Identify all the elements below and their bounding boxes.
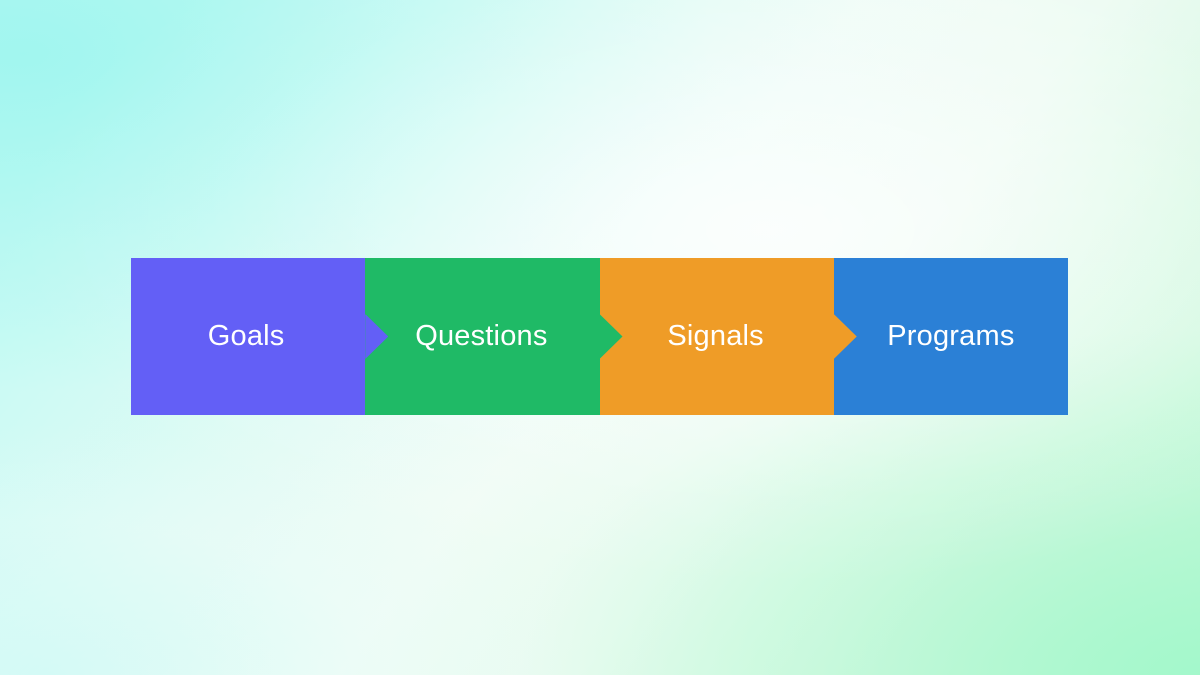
process-stage-questions[interactable]: Questions (365, 258, 599, 415)
process-stage-programs-label: Programs (887, 322, 1014, 351)
process-stage-goals[interactable]: Goals (131, 258, 365, 415)
process-stage-signals[interactable]: Signals (600, 258, 834, 415)
process-stage-questions-label: Questions (415, 322, 547, 351)
process-stage-goals-label: Goals (208, 322, 285, 351)
process-stage-signals-label: Signals (667, 322, 764, 351)
process-flow-banner: Goals Questions Signals Programs (131, 258, 1068, 415)
process-stage-programs[interactable]: Programs (834, 258, 1068, 415)
